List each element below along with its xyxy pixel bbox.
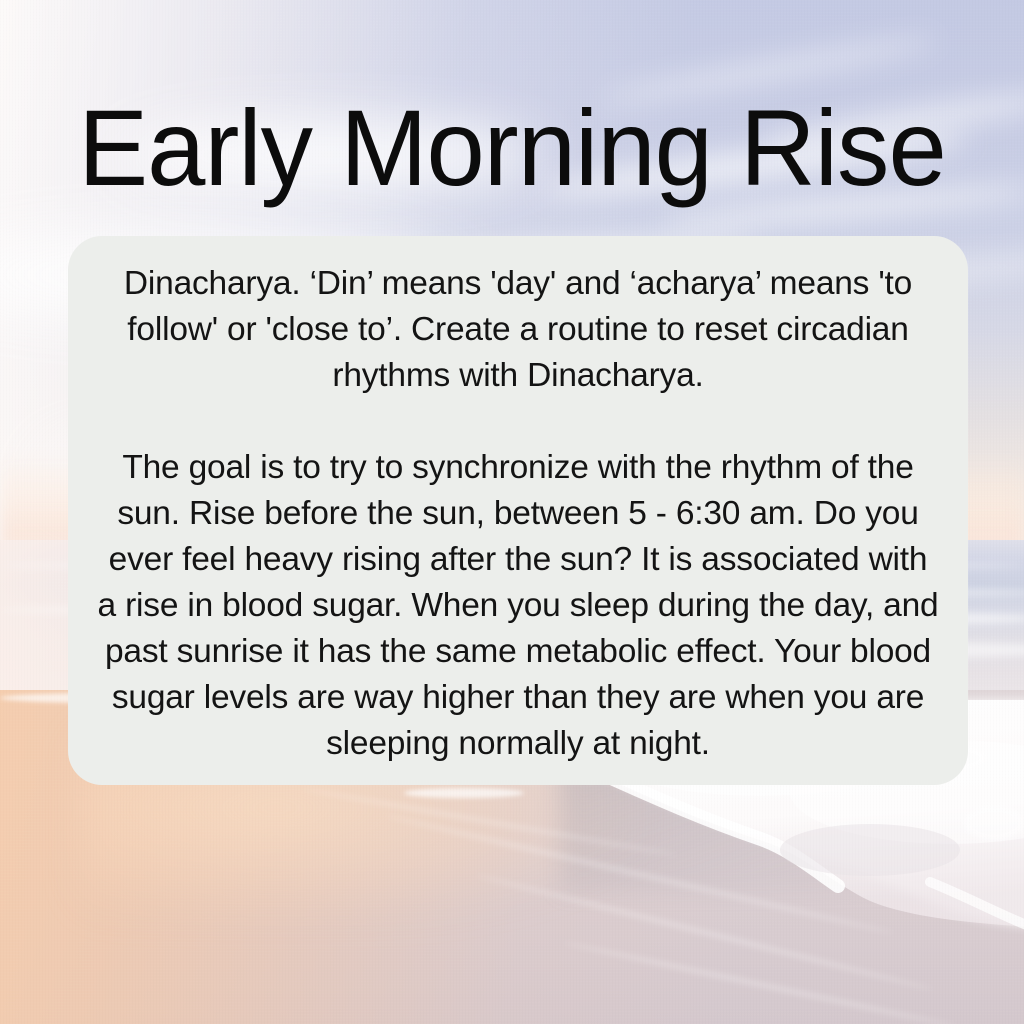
foam-speck <box>404 788 524 798</box>
poster-canvas: Early Morning Rise Dinacharya. ‘Din’ mea… <box>0 0 1024 1024</box>
page-title: Early Morning Rise <box>15 90 1008 207</box>
foam-speck <box>964 806 1024 840</box>
text-content-card: Dinacharya. ‘Din’ means 'day' and ‘achar… <box>68 236 968 785</box>
body-paragraph-2: The goal is to try to synchronize with t… <box>96 445 940 767</box>
body-paragraph-1: Dinacharya. ‘Din’ means 'day' and ‘achar… <box>96 261 940 399</box>
